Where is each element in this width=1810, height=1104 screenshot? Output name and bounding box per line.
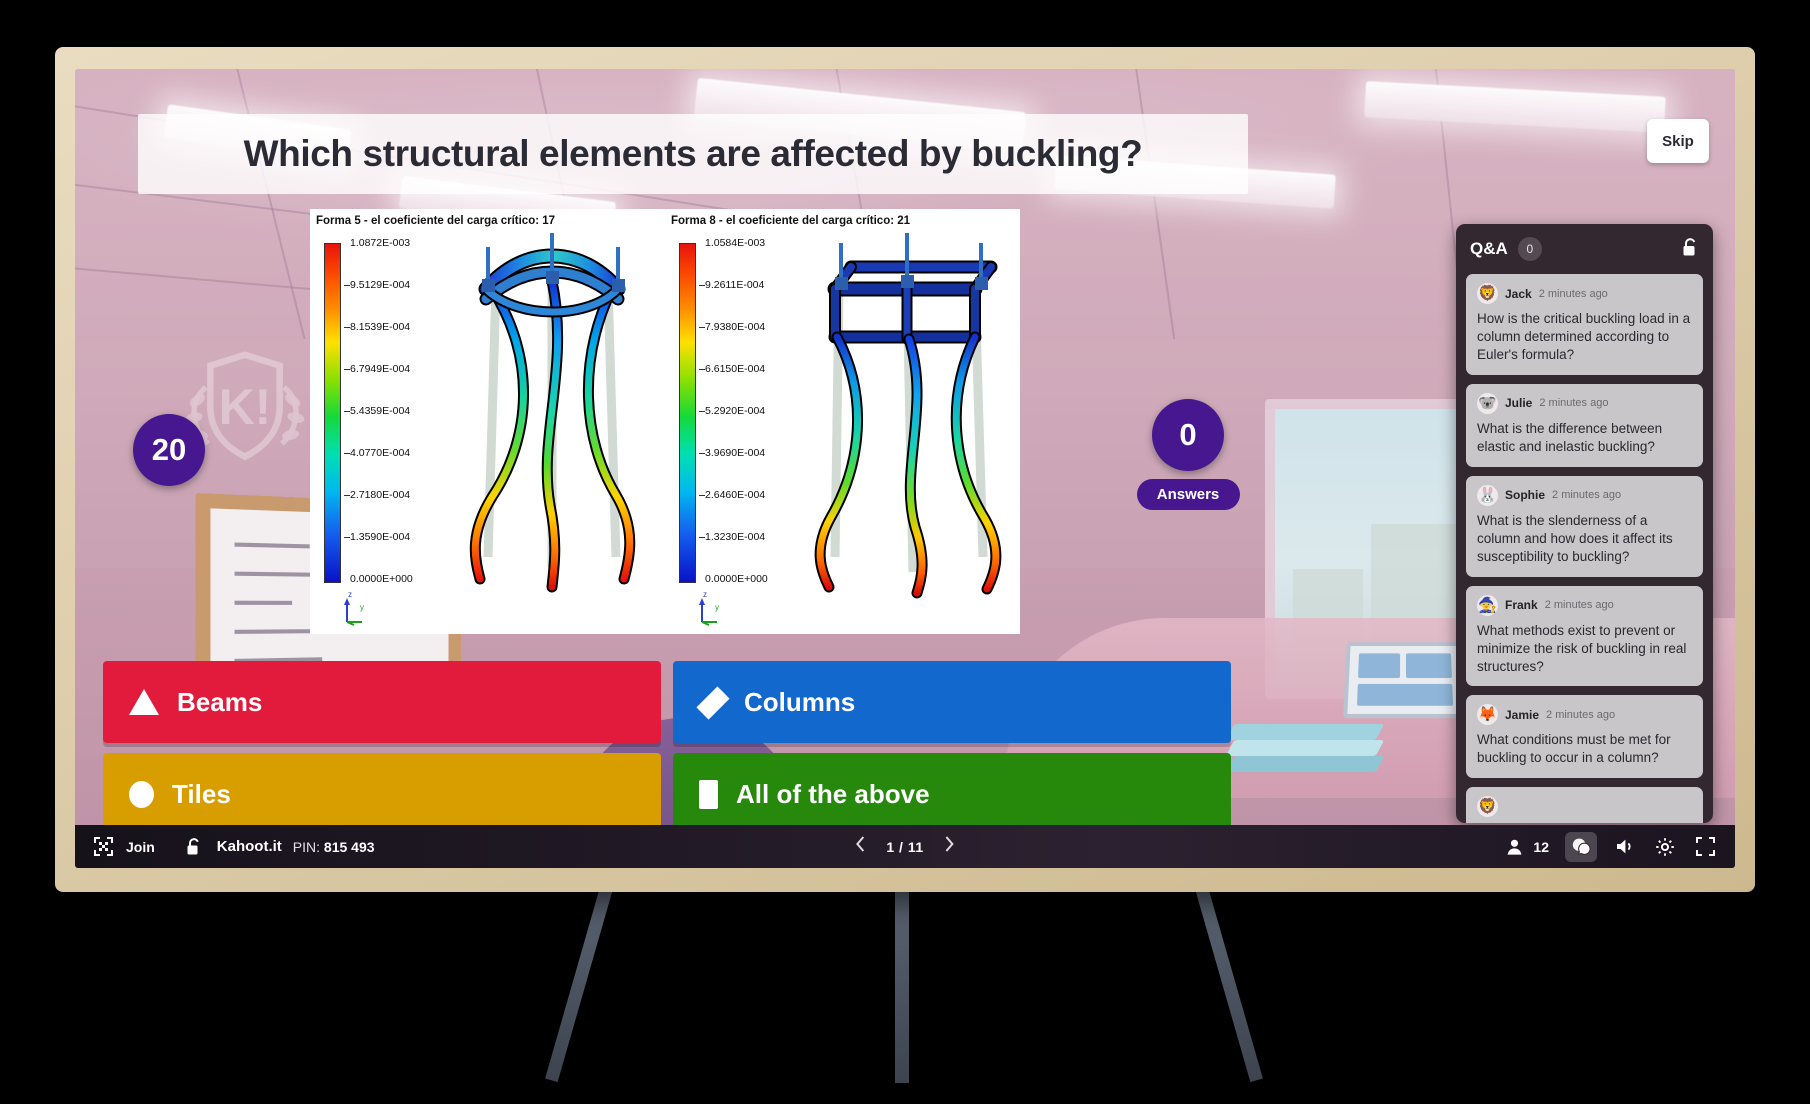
- avatar: 🦊: [1477, 704, 1498, 725]
- qa-timestamp: 2 minutes ago: [1546, 709, 1615, 721]
- cbar-tick-label: 1.0872E-003: [350, 237, 410, 249]
- pin-prefix: PIN:: [293, 839, 320, 855]
- qa-timestamp: 2 minutes ago: [1539, 288, 1608, 300]
- qa-question-text: How is the critical buckling load in a c…: [1477, 310, 1692, 364]
- question-bar: Which structural elements are affected b…: [138, 114, 1248, 194]
- diamond-icon: [699, 689, 726, 716]
- qa-question-text: What is the slenderness of a column and …: [1477, 512, 1692, 566]
- avatar: 🦁: [1477, 283, 1498, 304]
- fea-mode-shape-right: [795, 227, 1020, 627]
- cbar-tick-label: 4.0770E-004: [350, 447, 410, 459]
- page-indicator: 1 / 11: [886, 839, 923, 855]
- qa-entry[interactable]: 🧙 Frank 2 minutes ago What methods exist…: [1466, 586, 1703, 687]
- triangle-icon: [129, 689, 159, 715]
- svg-text:K!: K!: [219, 379, 272, 435]
- qa-count-badge: 0: [1518, 237, 1542, 261]
- circle-icon: [129, 781, 154, 808]
- cbar-tick-label: 0.0000E+000: [705, 573, 768, 585]
- laptop: [1343, 642, 1467, 718]
- avatar: 🧙: [1477, 595, 1498, 616]
- cbar-tick-label: 9.5129E-004: [350, 279, 410, 291]
- qa-entry[interactable]: 🦊 Jamie 2 minutes ago What conditions mu…: [1466, 695, 1703, 778]
- fea-mode-shape-left: [440, 227, 665, 627]
- cbar-tick-label: 6.7949E-004: [350, 363, 410, 375]
- player-count: 12: [1502, 835, 1549, 859]
- cbar-tick-label: 1.3230E-004: [705, 531, 765, 543]
- gear-icon[interactable]: [1653, 835, 1677, 859]
- qa-question-text: What methods exist to prevent or minimiz…: [1477, 622, 1692, 676]
- chevron-left-icon[interactable]: [854, 835, 866, 858]
- colorbar-labels-left: 1.0872E-003 9.5129E-004 8.1539E-004 6.79…: [344, 235, 454, 595]
- game-pin: PIN: 815 493: [293, 839, 375, 855]
- chart-title-left: Forma 5 - el coeficiente del carga críti…: [316, 215, 555, 227]
- cbar-tick-label: 8.1539E-004: [350, 321, 410, 333]
- fullscreen-icon[interactable]: [1693, 835, 1717, 859]
- fea-plot-right: Forma 8 - el coeficiente del carga críti…: [665, 209, 1020, 634]
- answer-label: Beams: [177, 687, 262, 718]
- qa-entry[interactable]: 🐰 Sophie 2 minutes ago What is the slend…: [1466, 476, 1703, 577]
- colorbar-right: [679, 243, 696, 583]
- tv-stand-pole: [895, 888, 909, 1083]
- qa-author: Jack: [1505, 287, 1532, 301]
- bottom-toolbar-right: 12: [1502, 832, 1735, 862]
- cbar-tick-label: 0.0000E+000: [350, 573, 413, 585]
- qa-question-text: What is the difference between elastic a…: [1477, 420, 1692, 456]
- answers-label: Answers: [1137, 479, 1240, 510]
- tv-screen: K! Which stru: [75, 69, 1735, 868]
- tv-stand-leg-left: [545, 886, 613, 1082]
- axes-triad-right: z y: [691, 588, 731, 626]
- qa-author: Jamie: [1505, 708, 1539, 722]
- qa-timestamp: 2 minutes ago: [1552, 489, 1621, 501]
- unlock-icon[interactable]: [1682, 237, 1699, 262]
- cbar-tick-label: 7.9380E-004: [705, 321, 765, 333]
- qa-entry-head: 🐨 Julie 2 minutes ago: [1477, 393, 1692, 414]
- qa-entry-partial[interactable]: 🦁: [1466, 787, 1703, 823]
- answers-count: 0: [1152, 399, 1224, 471]
- chevron-right-icon[interactable]: [944, 835, 956, 858]
- qa-author: Sophie: [1505, 488, 1545, 502]
- answer-button-columns[interactable]: Columns: [673, 661, 1231, 743]
- svg-text:z: z: [348, 590, 352, 599]
- qr-icon[interactable]: [91, 835, 115, 859]
- speaker-icon[interactable]: [1613, 835, 1637, 859]
- answer-label: Columns: [744, 687, 855, 718]
- answer-label: All of the above: [736, 779, 930, 810]
- skip-button[interactable]: Skip: [1647, 119, 1709, 163]
- svg-text:z: z: [703, 590, 707, 599]
- colorbar-left: [324, 243, 341, 583]
- unlock-icon[interactable]: [182, 835, 206, 859]
- qa-entry[interactable]: 🦁 Jack 2 minutes ago How is the critical…: [1466, 274, 1703, 375]
- answer-button-all-of-the-above[interactable]: All of the above: [673, 753, 1231, 835]
- qa-panel: Q&A 0 🦁 Jack 2 minutes ago: [1456, 224, 1713, 823]
- square-icon: [699, 780, 718, 809]
- cbar-tick-label: 5.4359E-004: [350, 405, 410, 417]
- qa-author: Frank: [1505, 598, 1538, 612]
- tv-frame: K! Which stru: [55, 47, 1755, 892]
- kahoot-site-label: Kahoot.it: [217, 838, 282, 855]
- qa-entry-head: 🦁: [1477, 796, 1692, 817]
- question-media: Forma 5 - el coeficiente del carga críti…: [310, 209, 1020, 634]
- page-navigation: 1 / 11: [854, 835, 955, 858]
- chart-title-right: Forma 8 - el coeficiente del carga críti…: [671, 215, 910, 227]
- cbar-tick-label: 2.7180E-004: [350, 489, 410, 501]
- qa-entry-head: 🐰 Sophie 2 minutes ago: [1477, 485, 1692, 506]
- qa-entry-head: 🧙 Frank 2 minutes ago: [1477, 595, 1692, 616]
- qa-bubble-icon[interactable]: [1565, 832, 1597, 862]
- avatar: 🐨: [1477, 393, 1498, 414]
- fea-plot-left: Forma 5 - el coeficiente del carga críti…: [310, 209, 665, 634]
- svg-text:y: y: [715, 603, 719, 612]
- qa-question-text: What conditions must be met for buckling…: [1477, 731, 1692, 767]
- answer-grid: Beams Columns Tiles All of the above: [103, 661, 1231, 835]
- cbar-tick-label: 6.6150E-004: [705, 363, 765, 375]
- colorbar-labels-right: 1.0584E-003 9.2611E-004 7.9380E-004 6.61…: [699, 235, 809, 595]
- axes-triad-left: z y: [336, 588, 376, 626]
- book-stack: [1230, 724, 1380, 772]
- qa-entry-head: 🦊 Jamie 2 minutes ago: [1477, 704, 1692, 725]
- answers-counter: 0 Answers: [1133, 399, 1243, 510]
- timer-badge: 20: [133, 414, 205, 486]
- bottom-toolbar-left: Join Kahoot.it PIN: 815 493: [75, 835, 375, 859]
- avatar: 🐰: [1477, 485, 1498, 506]
- svg-text:y: y: [360, 603, 364, 612]
- answer-button-tiles[interactable]: Tiles: [103, 753, 661, 835]
- answer-button-beams[interactable]: Beams: [103, 661, 661, 743]
- qa-timestamp: 2 minutes ago: [1539, 397, 1608, 409]
- qa-author: Julie: [1505, 396, 1532, 410]
- screenshot-root: K! Which stru: [0, 0, 1810, 1104]
- page-title: Which structural elements are affected b…: [244, 133, 1143, 175]
- cbar-tick-label: 2.6460E-004: [705, 489, 765, 501]
- qa-header: Q&A 0: [1456, 224, 1713, 274]
- pin-value: 815 493: [324, 839, 375, 855]
- qa-entry[interactable]: 🐨 Julie 2 minutes ago What is the differ…: [1466, 384, 1703, 467]
- player-count-value: 12: [1533, 839, 1549, 855]
- cbar-tick-label: 1.0584E-003: [705, 237, 765, 249]
- join-label[interactable]: Join: [126, 839, 155, 855]
- cbar-tick-label: 3.9690E-004: [705, 447, 765, 459]
- qa-title: Q&A: [1470, 239, 1508, 259]
- bottom-toolbar: Join Kahoot.it PIN: 815 493: [75, 825, 1735, 868]
- cbar-tick-label: 1.3590E-004: [350, 531, 410, 543]
- cbar-tick-label: 5.2920E-004: [705, 405, 765, 417]
- qa-entry-head: 🦁 Jack 2 minutes ago: [1477, 283, 1692, 304]
- cbar-tick-label: 9.2611E-004: [705, 279, 764, 291]
- qa-timestamp: 2 minutes ago: [1545, 599, 1614, 611]
- answer-label: Tiles: [172, 779, 231, 810]
- tv-stand-leg-right: [1195, 886, 1263, 1082]
- qa-list[interactable]: 🦁 Jack 2 minutes ago How is the critical…: [1456, 274, 1713, 823]
- avatar: 🦁: [1477, 796, 1498, 817]
- person-icon: [1502, 835, 1526, 859]
